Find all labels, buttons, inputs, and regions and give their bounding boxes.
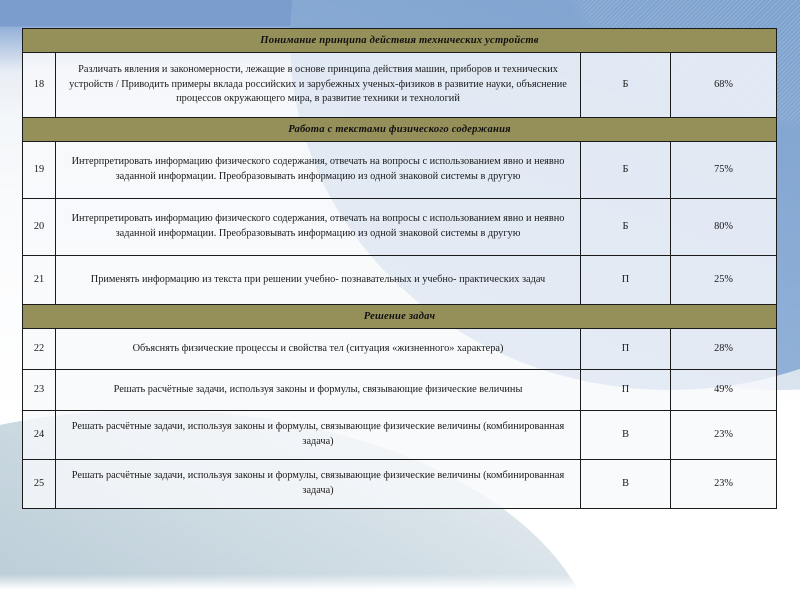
row-level: В [581,411,671,460]
row-percent: 23% [671,411,777,460]
row-percent: 28% [671,329,777,370]
table-row: 25 Решать расчётные задачи, используя за… [23,460,777,509]
skills-table: Понимание принципа действия технических … [22,28,777,509]
row-percent: 80% [671,199,777,256]
row-percent: 23% [671,460,777,509]
row-level: Б [581,199,671,256]
row-description: Применять информацию из текста при решен… [56,256,581,305]
row-description: Решать расчётные задачи, используя закон… [56,370,581,411]
section-header-row: Работа с текстами физического содержания [23,118,777,142]
row-percent: 68% [671,53,777,118]
row-description: Интерпретировать информацию физического … [56,142,581,199]
row-level: П [581,370,671,411]
row-number: 21 [23,256,56,305]
table-row: 18 Различать явления и закономерности, л… [23,53,777,118]
row-percent: 25% [671,256,777,305]
row-description: Решать расчётные задачи, используя закон… [56,411,581,460]
table-row: 23 Решать расчётные задачи, используя за… [23,370,777,411]
skills-table-body: Понимание принципа действия технических … [23,29,777,509]
row-number: 23 [23,370,56,411]
row-number: 20 [23,199,56,256]
table-row: 20 Интерпретировать информацию физическо… [23,199,777,256]
row-level: Б [581,142,671,199]
row-description: Различать явления и закономерности, лежа… [56,53,581,118]
slide-canvas: Понимание принципа действия технических … [0,0,800,600]
row-description: Интерпретировать информацию физического … [56,199,581,256]
section-header-title: Понимание принципа действия технических … [23,29,777,53]
row-description: Решать расчётные задачи, используя закон… [56,460,581,509]
row-level: Б [581,53,671,118]
table-row: 21 Применять информацию из текста при ре… [23,256,777,305]
row-number: 24 [23,411,56,460]
row-number: 22 [23,329,56,370]
table-row: 22 Объяснять физические процессы и свойс… [23,329,777,370]
section-header-row: Решение задач [23,305,777,329]
section-header-title: Решение задач [23,305,777,329]
background-bottom-fade [0,574,800,600]
section-header-title: Работа с текстами физического содержания [23,118,777,142]
row-percent: 75% [671,142,777,199]
row-level: П [581,329,671,370]
table-row: 19 Интерпретировать информацию физическо… [23,142,777,199]
row-percent: 49% [671,370,777,411]
row-number: 25 [23,460,56,509]
skills-table-container: Понимание принципа действия технических … [22,28,776,509]
row-level: П [581,256,671,305]
section-header-row: Понимание принципа действия технических … [23,29,777,53]
row-description: Объяснять физические процессы и свойства… [56,329,581,370]
row-number: 18 [23,53,56,118]
row-level: В [581,460,671,509]
table-row: 24 Решать расчётные задачи, используя за… [23,411,777,460]
row-number: 19 [23,142,56,199]
